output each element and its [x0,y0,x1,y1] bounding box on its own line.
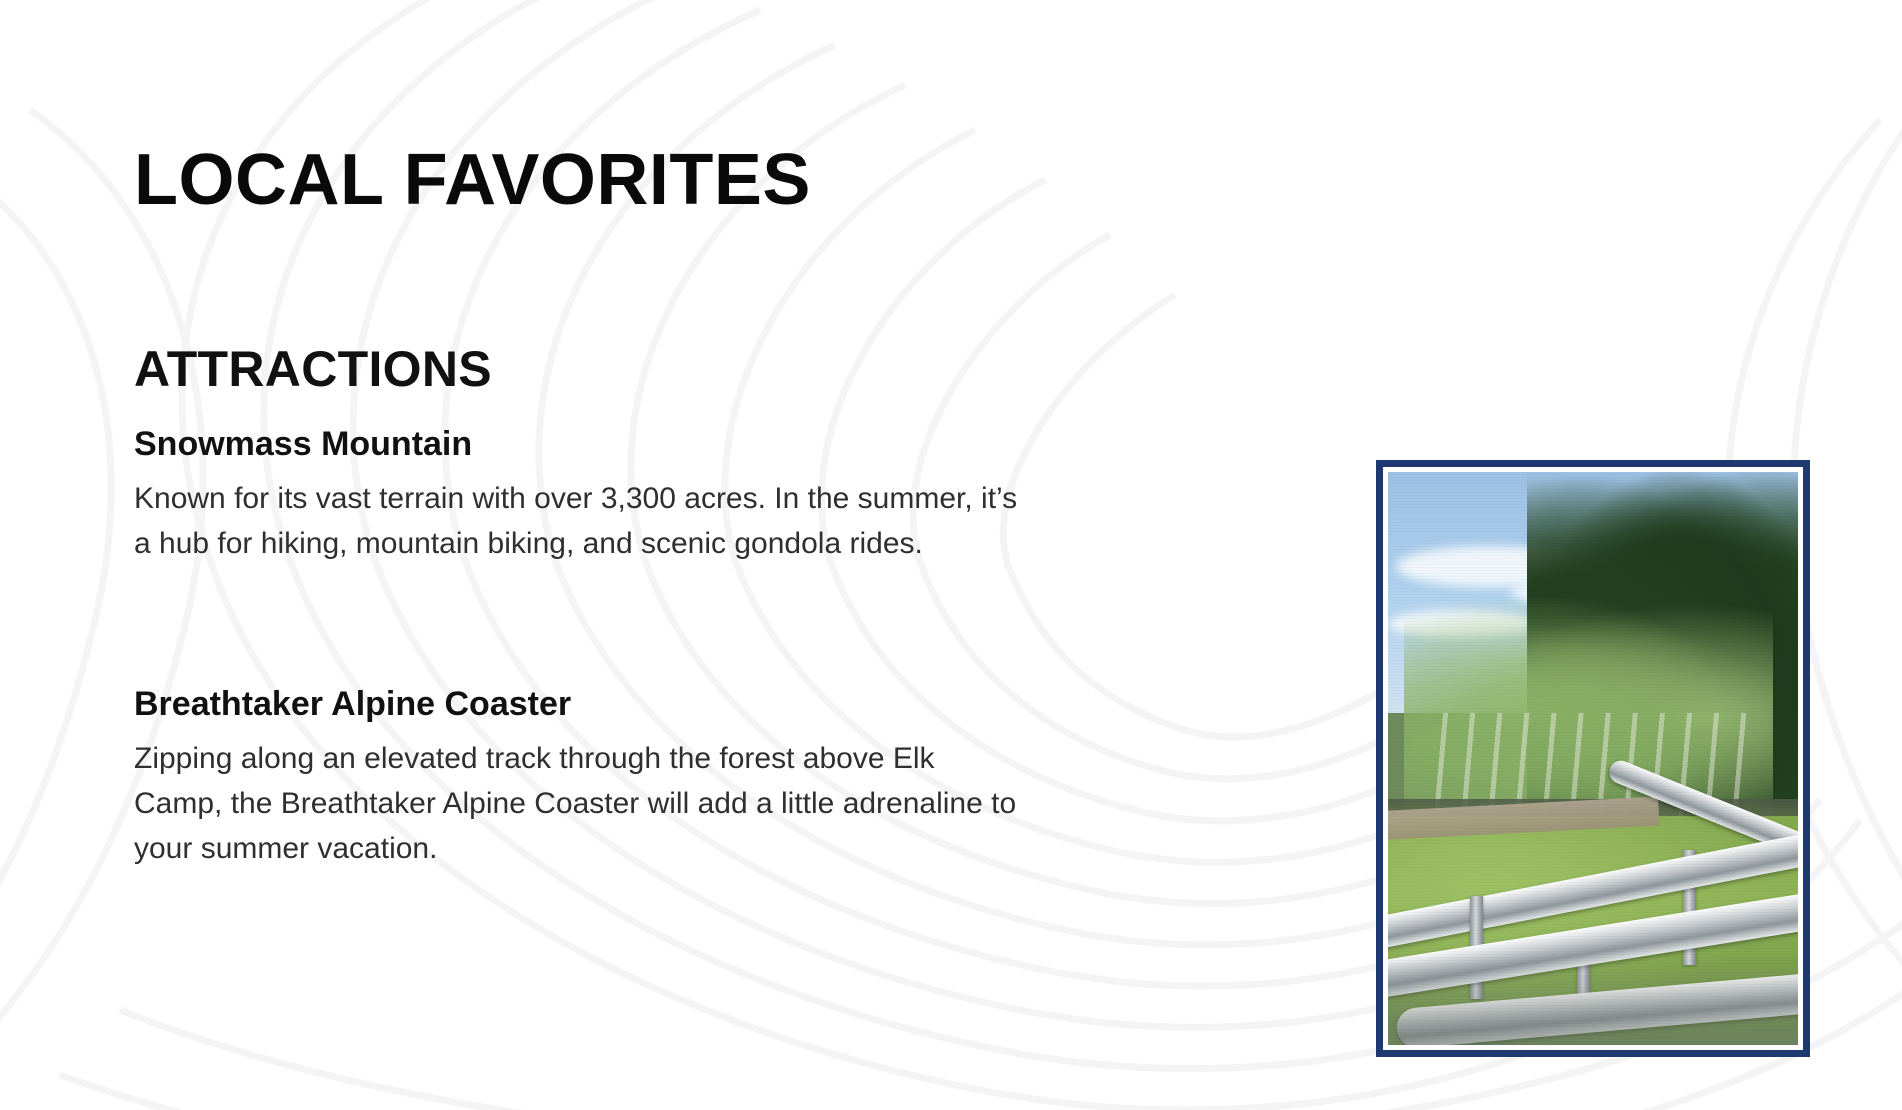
attraction-name: Snowmass Mountain [134,422,1046,466]
page-title: LOCAL FAVORITES [134,141,811,219]
slide-canvas: LOCAL FAVORITES ATTRACTIONS Snowmass Mou… [0,0,1902,1110]
photo-foreground-shadow [1388,953,1798,1045]
text-column: LOCAL FAVORITES ATTRACTIONS Snowmass Mou… [134,0,1084,1110]
section-heading-attractions: ATTRACTIONS [134,341,492,397]
attraction-item: Snowmass Mountain Known for its vast ter… [134,422,1046,566]
alpine-coaster-photo [1388,472,1798,1045]
attraction-photo-frame [1376,460,1810,1057]
attraction-description: Zipping along an elevated track through … [134,736,1024,871]
attraction-description: Known for its vast terrain with over 3,3… [134,476,1039,566]
attraction-name: Breathtaker Alpine Coaster [134,682,1046,726]
attraction-item: Breathtaker Alpine Coaster Zipping along… [134,682,1046,871]
